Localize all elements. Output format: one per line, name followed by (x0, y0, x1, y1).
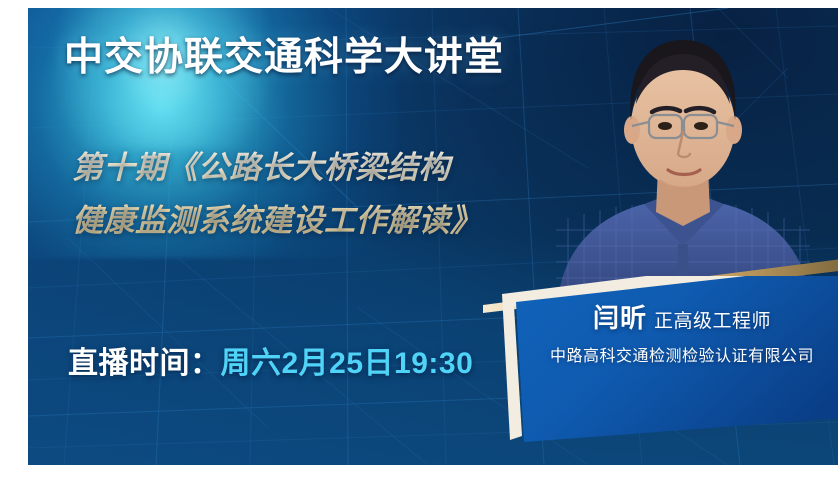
banner-root: 中交协联交通科学大讲堂 第十期《公路长大桥梁结构 健康监测系统建设工作解读》 直… (0, 0, 840, 480)
live-time-value: 周六2月25日19:30 (221, 347, 474, 380)
live-time-block: 直播时间：周六2月25日19:30 (68, 338, 473, 382)
subtitle-line-2: 健康监测系统建设工作解读》 (72, 194, 602, 247)
live-time-label: 直播时间： (68, 347, 221, 380)
subtitle-block: 第十期《公路长大桥梁结构 健康监测系统建设工作解读》 (72, 141, 602, 248)
subtitle-line-1: 第十期《公路长大桥梁结构 (72, 141, 602, 194)
page-title: 中交协联交通科学大讲堂 (64, 34, 504, 83)
speaker-info-panel (498, 276, 838, 465)
promo-banner: 中交协联交通科学大讲堂 第十期《公路长大桥梁结构 健康监测系统建设工作解读》 直… (28, 8, 838, 465)
